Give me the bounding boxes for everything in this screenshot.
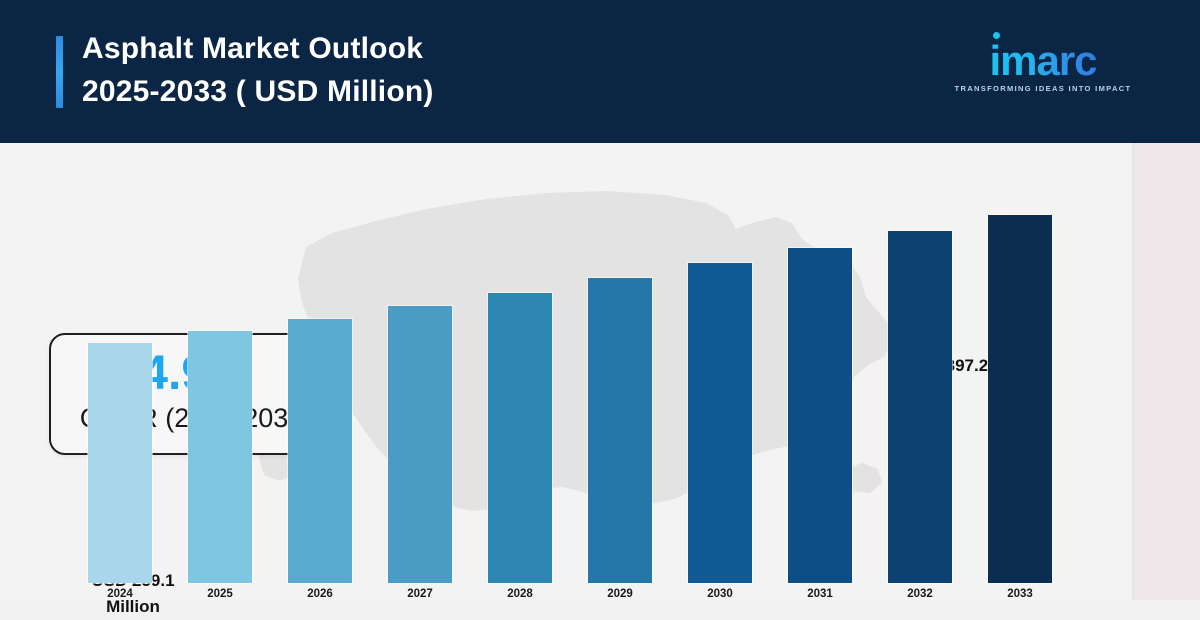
- x-axis-tick-label: 2025: [188, 588, 252, 600]
- page-title: Asphalt Market Outlook 2025-2033 ( USD M…: [82, 27, 842, 113]
- page-title-line2: 2025-2033 ( USD Million): [82, 70, 842, 113]
- bar: [488, 293, 552, 583]
- logo-tagline: TRANSFORMING IDEAS INTO IMPACT: [948, 84, 1138, 93]
- x-axis-tick-label: 2032: [888, 588, 952, 600]
- bar-column: [988, 143, 1052, 583]
- bar: [888, 231, 952, 583]
- bar: [788, 248, 852, 583]
- bar: [988, 215, 1052, 583]
- logo-wordmark-text: imarc: [989, 37, 1096, 84]
- page-title-line1: Asphalt Market Outlook: [82, 27, 842, 70]
- right-side-panel: [1134, 143, 1200, 600]
- bar: [88, 343, 152, 583]
- bar: [388, 306, 452, 583]
- bar-column: [688, 143, 752, 583]
- bar-column: [288, 143, 352, 583]
- bar-column: [588, 143, 652, 583]
- bar: [188, 331, 252, 583]
- x-axis-tick-label: 2024: [88, 588, 152, 600]
- bar: [288, 319, 352, 583]
- imarc-logo[interactable]: imarc TRANSFORMING IDEAS INTO IMPACT: [948, 40, 1138, 93]
- bar-column: [88, 143, 152, 583]
- x-axis-tick-label: 2026: [288, 588, 352, 600]
- x-axis-tick-label: 2033: [988, 588, 1052, 600]
- x-axis-tick-label: 2027: [388, 588, 452, 600]
- header-bar: Asphalt Market Outlook 2025-2033 ( USD M…: [0, 0, 1200, 143]
- bar-column: [788, 143, 852, 583]
- logo-wordmark: imarc: [989, 40, 1096, 82]
- chart-body: 4.9% CAGR (2025-2033) USD 259.1 Million …: [0, 143, 1200, 600]
- bar-column: [388, 143, 452, 583]
- bar: [688, 263, 752, 583]
- header-accent-bar: [56, 36, 63, 108]
- bar-column: [188, 143, 252, 583]
- x-axis-tick-label: 2029: [588, 588, 652, 600]
- bar: [588, 278, 652, 583]
- bar-column: [488, 143, 552, 583]
- x-axis-tick-label: 2028: [488, 588, 552, 600]
- x-axis-tick-label: 2030: [688, 588, 752, 600]
- chart-page: Asphalt Market Outlook 2025-2033 ( USD M…: [0, 0, 1200, 600]
- x-axis-tick-label: 2031: [788, 588, 852, 600]
- bar-column: [888, 143, 952, 583]
- bar-series: 2024202520262027202820292030203120322033: [60, 143, 1080, 600]
